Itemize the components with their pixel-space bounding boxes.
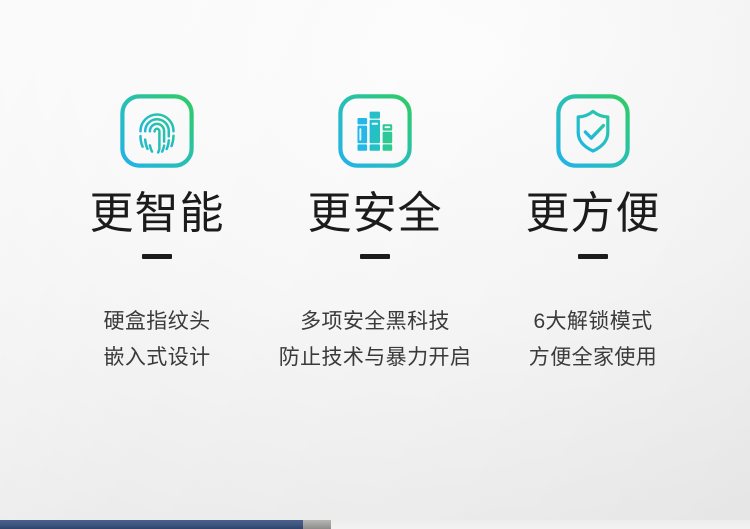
heading-divider	[578, 254, 608, 259]
feature-column-smarter: 更智能 硬盒指纹头 嵌入式设计	[48, 0, 266, 377]
heading-divider	[142, 254, 172, 259]
feature-column-convenient: 更方便 6大解锁模式 方便全家使用	[484, 0, 702, 377]
feature-heading: 更方便	[526, 191, 661, 238]
heading-divider	[360, 254, 390, 259]
fingerprint-icon	[120, 94, 194, 168]
feature-description: 多项安全黑科技 防止技术与暴力开启	[279, 304, 472, 378]
feature-column-safer: 更安全 多项安全黑科技 防止技术与暴力开启	[266, 0, 484, 377]
feature-description: 硬盒指纹头 嵌入式设计	[104, 304, 211, 378]
feature-heading: 更智能	[90, 191, 225, 238]
books-icon	[338, 94, 412, 168]
scrollbar-thumb[interactable]	[0, 520, 303, 529]
feature-highlights-page: 更智能 硬盒指纹头 嵌入式设计	[0, 0, 750, 529]
feature-description-line: 6大解锁模式	[529, 304, 657, 341]
feature-heading: 更安全	[308, 191, 443, 238]
scrollbar-thumb-secondary[interactable]	[303, 520, 331, 529]
feature-description-line: 嵌入式设计	[104, 340, 211, 377]
feature-description-line: 方便全家使用	[529, 340, 657, 377]
feature-description-line: 硬盒指纹头	[104, 304, 211, 341]
shield-check-icon	[556, 94, 630, 168]
feature-description-line: 多项安全黑科技	[279, 304, 472, 341]
horizontal-scrollbar[interactable]	[0, 519, 750, 529]
feature-description-line: 防止技术与暴力开启	[279, 340, 472, 377]
feature-columns: 更智能 硬盒指纹头 嵌入式设计	[0, 0, 750, 500]
feature-description: 6大解锁模式 方便全家使用	[529, 304, 657, 378]
